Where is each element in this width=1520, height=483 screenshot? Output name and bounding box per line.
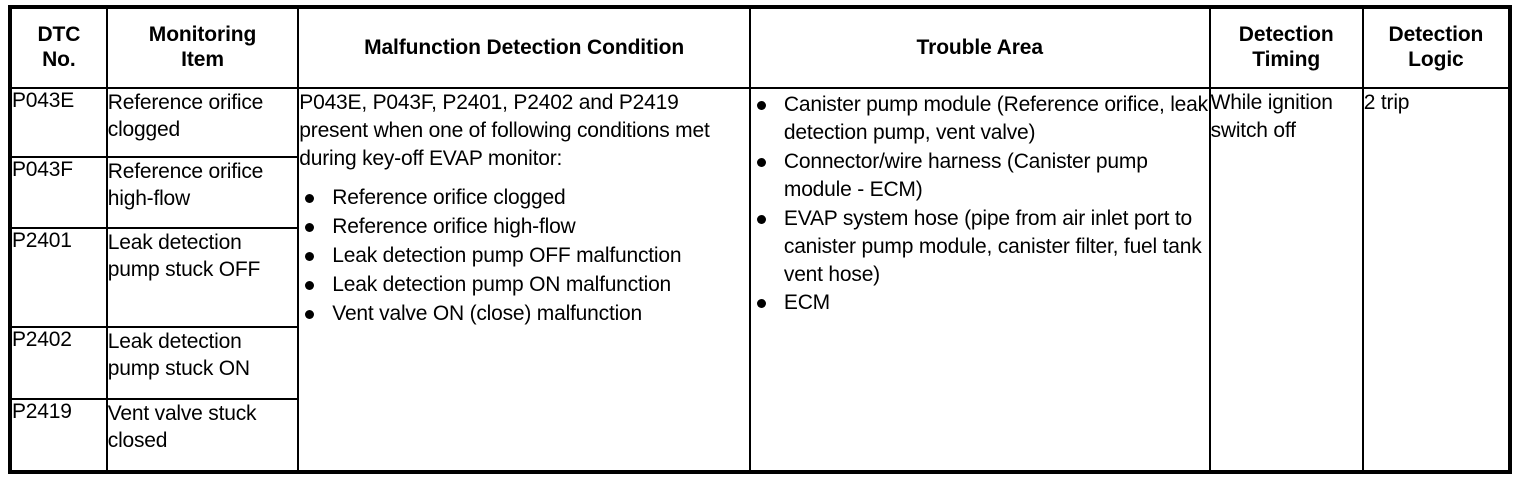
dtc-code-cell: P043F xyxy=(10,157,107,228)
column-header-dtc-no-line2: No. xyxy=(42,48,76,71)
column-header-monitoring-item: Monitoring Item xyxy=(107,7,299,88)
detection-timing-value: While ignition switch off xyxy=(1211,89,1362,145)
column-header-detection-logic: Detection Logic xyxy=(1363,7,1510,88)
dtc-code-cell: P2419 xyxy=(10,399,107,472)
list-item-label: EVAP system hose (pipe from air inlet po… xyxy=(784,207,1202,286)
table-row: P043E Reference orifice clogged P043E, P… xyxy=(10,88,1510,157)
bullet-icon xyxy=(757,158,766,167)
column-header-malfunction-detection-condition: Malfunction Detection Condition xyxy=(298,7,750,88)
column-header-detection-timing: Detection Timing xyxy=(1210,7,1363,88)
list-item-label: Leak detection pump OFF malfunction xyxy=(332,244,681,267)
list-item: EVAP system hose (pipe from air inlet po… xyxy=(751,205,1209,289)
dtc-code-cell: P2402 xyxy=(10,327,107,399)
bullet-icon xyxy=(757,101,766,110)
list-item: Connector/wire harness (Canister pump mo… xyxy=(751,148,1209,204)
list-item-label: Canister pump module (Reference orifice,… xyxy=(784,93,1208,144)
monitoring-item-cell: Vent valve stuck closed xyxy=(107,399,299,472)
column-header-trouble-area-label: Trouble Area xyxy=(917,36,1043,59)
list-item: Reference orifice clogged xyxy=(299,184,749,212)
column-header-detection-logic-line1: Detection xyxy=(1389,23,1484,46)
list-item: Leak detection pump OFF malfunction xyxy=(299,242,749,270)
column-header-malfunction-detection-condition-label: Malfunction Detection Condition xyxy=(364,36,684,59)
list-item: Canister pump module (Reference orifice,… xyxy=(751,91,1209,147)
column-header-dtc-no-line1: DTC xyxy=(37,23,80,46)
list-item-label: ECM xyxy=(784,291,830,314)
list-item-label: Vent valve ON (close) malfunction xyxy=(332,302,642,325)
dtc-code-cell: P043E xyxy=(10,88,107,157)
column-header-detection-logic-line2: Logic xyxy=(1408,48,1464,71)
bullet-icon xyxy=(305,281,314,290)
malfunction-condition-list: Reference orifice clogged Reference orif… xyxy=(299,184,749,328)
bullet-icon xyxy=(305,252,314,261)
list-item: ECM xyxy=(751,289,1209,317)
dtc-diagnostic-table: DTC No. Monitoring Item Malfunction Dete… xyxy=(8,5,1512,474)
column-header-monitoring-item-line2: Item xyxy=(181,48,224,71)
column-header-monitoring-item-line1: Monitoring xyxy=(149,23,256,46)
malfunction-condition-intro: P043E, P043F, P2401, P2402 and P2419 pre… xyxy=(299,89,749,172)
bullet-icon xyxy=(305,310,314,319)
bullet-icon xyxy=(305,223,314,232)
monitoring-item-cell: Reference orifice high-flow xyxy=(107,157,299,228)
detection-timing-cell: While ignition switch off xyxy=(1210,88,1363,472)
dtc-code-cell: P2401 xyxy=(10,228,107,327)
detection-logic-cell: 2 trip xyxy=(1363,88,1510,472)
monitoring-item-cell: Leak detection pump stuck ON xyxy=(107,327,299,399)
bullet-icon xyxy=(757,299,766,308)
malfunction-detection-condition-cell: P043E, P043F, P2401, P2402 and P2419 pre… xyxy=(298,88,750,472)
column-header-detection-timing-line2: Timing xyxy=(1252,48,1320,71)
list-item-label: Reference orifice clogged xyxy=(332,186,565,209)
bullet-icon xyxy=(757,215,766,224)
column-header-detection-timing-line1: Detection xyxy=(1239,23,1334,46)
detection-logic-value: 2 trip xyxy=(1364,89,1508,117)
table-header-row: DTC No. Monitoring Item Malfunction Dete… xyxy=(10,7,1510,88)
bullet-icon xyxy=(305,194,314,203)
list-item: Reference orifice high-flow xyxy=(299,213,749,241)
list-item: Leak detection pump ON malfunction xyxy=(299,271,749,299)
monitoring-item-cell: Leak detection pump stuck OFF xyxy=(107,228,299,327)
trouble-area-cell: Canister pump module (Reference orifice,… xyxy=(750,88,1210,472)
list-item-label: Leak detection pump ON malfunction xyxy=(332,273,671,296)
column-header-trouble-area: Trouble Area xyxy=(750,7,1210,88)
list-item: Vent valve ON (close) malfunction xyxy=(299,300,749,328)
list-item-label: Reference orifice high-flow xyxy=(332,215,575,238)
monitoring-item-cell: Reference orifice clogged xyxy=(107,88,299,157)
trouble-area-list: Canister pump module (Reference orifice,… xyxy=(751,91,1209,317)
list-item-label: Connector/wire harness (Canister pump mo… xyxy=(784,150,1148,201)
column-header-dtc-no: DTC No. xyxy=(10,7,107,88)
